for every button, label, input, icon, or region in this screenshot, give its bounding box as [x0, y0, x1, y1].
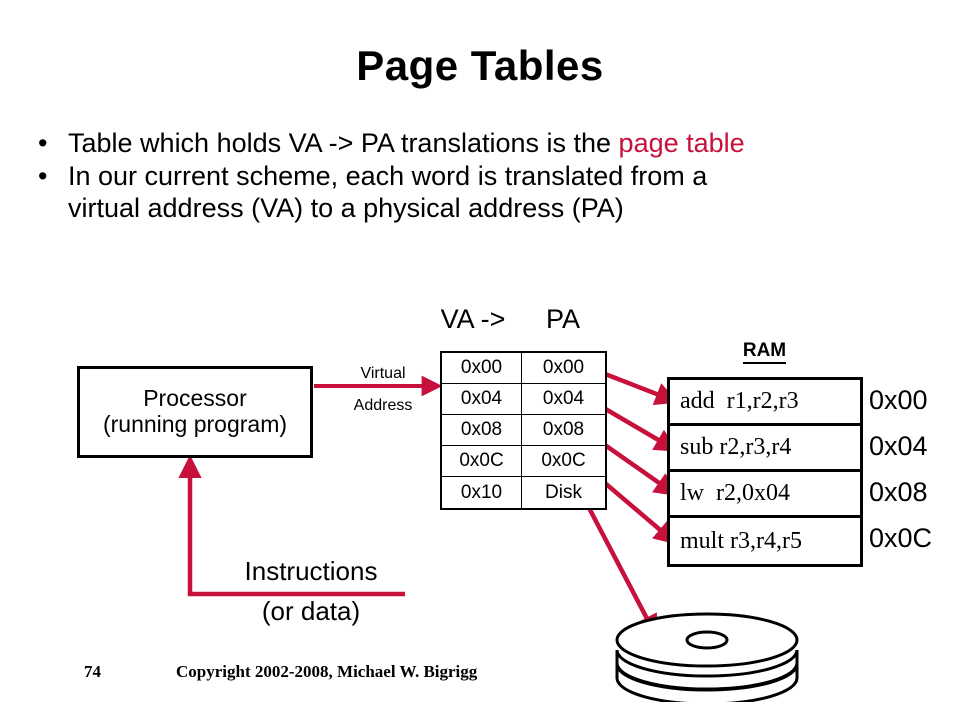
instructions-line2: (or data) [196, 598, 426, 624]
ram-address: 0x08 [869, 469, 959, 515]
table-row: 0x08 0x08 [442, 415, 605, 446]
instructions-label: Instructions (or data) [196, 558, 426, 624]
page-table-cell-va: 0x08 [442, 415, 522, 445]
processor-box[interactable]: Processor (running program) [77, 366, 313, 458]
page-table-cell-va: 0x00 [442, 353, 522, 383]
slide-canvas: Page Tables • Table which holds VA -> PA… [0, 0, 960, 720]
page-table-cell-pa: 0x00 [522, 353, 605, 383]
virtual-address-label: Virtual Address [328, 362, 438, 417]
ram-instruction: sub r2,r3,r4 [680, 434, 791, 461]
virtual-address-line1: Virtual [328, 362, 438, 385]
arrow-pt-row-1-to-ram-row-1 [600, 372, 672, 400]
page-table-cell-va: 0x0C [442, 446, 522, 476]
slide-footer: 74 Copyright 2002-2008, Michael W. Bigri… [84, 662, 604, 682]
page-table-cell-va: 0x04 [442, 384, 522, 414]
instructions-line1: Instructions [196, 558, 426, 584]
page-table-diagram: Processor (running program) Virtual Addr… [0, 0, 960, 720]
ram-instruction: add r1,r2,r3 [680, 388, 799, 415]
table-row: sub r2,r3,r4 [670, 426, 860, 472]
page-table-cell-pa: Disk [522, 477, 605, 508]
ram-header: RAM [667, 341, 862, 362]
copyright-notice: Copyright 2002-2008, Michael W. Bigrigg [176, 662, 604, 682]
arrow-pt-row-2-to-ram-row-2 [597, 404, 672, 448]
processor-label-line1: Processor [143, 386, 247, 412]
ram-instruction: mult r3,r4,r5 [680, 528, 802, 555]
page-table-header-pa: PA [516, 305, 610, 335]
table-row: add r1,r2,r3 [670, 380, 860, 426]
virtual-address-line2: Address [328, 394, 438, 417]
page-table-cell-va: 0x10 [442, 477, 522, 508]
table-row: 0x0C 0x0C [442, 446, 605, 477]
disk-platter-stack-icon [612, 612, 802, 702]
page-table-header: VA -> PA [430, 305, 610, 335]
page-table-header-va: VA -> [430, 305, 516, 335]
page-table-cell-pa: 0x08 [522, 415, 605, 445]
ram-address: 0x04 [869, 423, 959, 469]
table-row: 0x00 0x00 [442, 353, 605, 384]
slide-number: 74 [84, 662, 176, 682]
ram-box: add r1,r2,r3 sub r2,r3,r4 lw r2,0x04 mul… [667, 377, 863, 567]
ram-address: 0x00 [869, 377, 959, 423]
processor-label-line2: (running program) [103, 412, 287, 438]
table-row: lw r2,0x04 [670, 472, 860, 518]
ram-header-label: RAM [743, 340, 786, 364]
table-row: 0x10 Disk [442, 477, 605, 508]
ram-address: 0x0C [869, 515, 959, 561]
page-table-cell-pa: 0x0C [522, 446, 605, 476]
page-table-cell-pa: 0x04 [522, 384, 605, 414]
ram-address-column: 0x00 0x04 0x08 0x0C [869, 377, 959, 561]
table-row: 0x04 0x04 [442, 384, 605, 415]
page-table: 0x00 0x00 0x04 0x04 0x08 0x08 0x0C 0x0C … [440, 351, 607, 510]
table-row: mult r3,r4,r5 [670, 518, 860, 564]
ram-instruction: lw r2,0x04 [680, 480, 790, 507]
